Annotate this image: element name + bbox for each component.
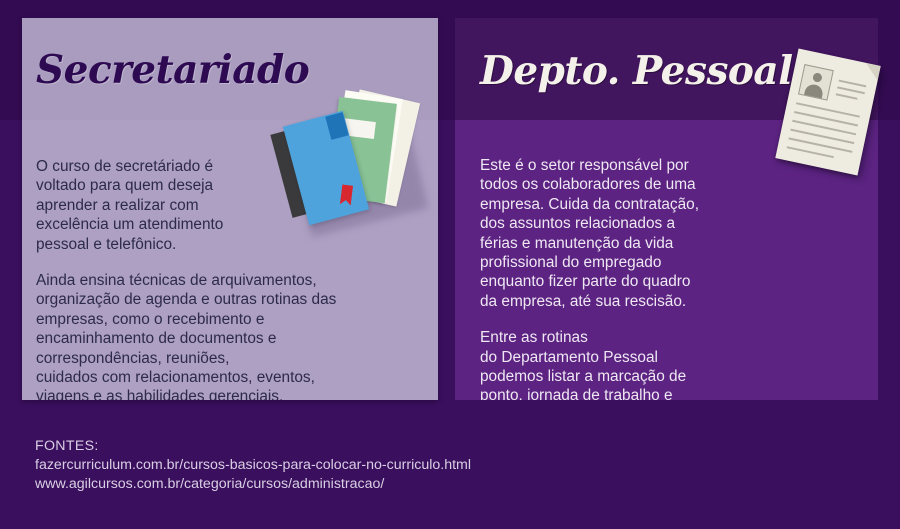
right-paragraph-1: Este é o setor responsável por todos os … bbox=[480, 156, 748, 311]
source-link-2[interactable]: www.agilcursos.com.br/categoria/cursos/a… bbox=[35, 475, 735, 494]
source-link-1[interactable]: fazercurriculum.com.br/cursos-basicos-pa… bbox=[35, 456, 735, 475]
books-icon bbox=[275, 90, 438, 235]
resume-photo-head bbox=[812, 72, 823, 83]
resume-text-line bbox=[839, 80, 867, 88]
right-panel-body: Este é o setor responsável por todos os … bbox=[480, 156, 748, 400]
panel-secretariado: Secretariado O curso de secretáriado é v… bbox=[22, 18, 438, 400]
right-paragraph-2: Entre as rotinas do Departamento Pessoal… bbox=[480, 328, 748, 400]
resume-text-line bbox=[837, 86, 865, 94]
resume-document-icon bbox=[778, 50, 890, 182]
right-panel-title: Depto. Pessoal bbox=[480, 48, 793, 94]
sources-footer: FONTES: fazercurriculum.com.br/cursos-ba… bbox=[35, 437, 735, 495]
left-paragraph-2: Ainda ensina técnicas de arquivamentos, … bbox=[36, 271, 408, 400]
resume-text-line bbox=[787, 146, 834, 158]
left-panel-title: Secretariado bbox=[36, 47, 309, 93]
sources-label: FONTES: bbox=[35, 437, 735, 456]
infographic-canvas: Secretariado O curso de secretáriado é v… bbox=[0, 0, 900, 529]
resume-photo-torso bbox=[804, 83, 824, 98]
resume-text-line bbox=[836, 93, 858, 100]
resume-photo-placeholder bbox=[798, 64, 834, 101]
resume-corner-fold bbox=[863, 63, 881, 81]
